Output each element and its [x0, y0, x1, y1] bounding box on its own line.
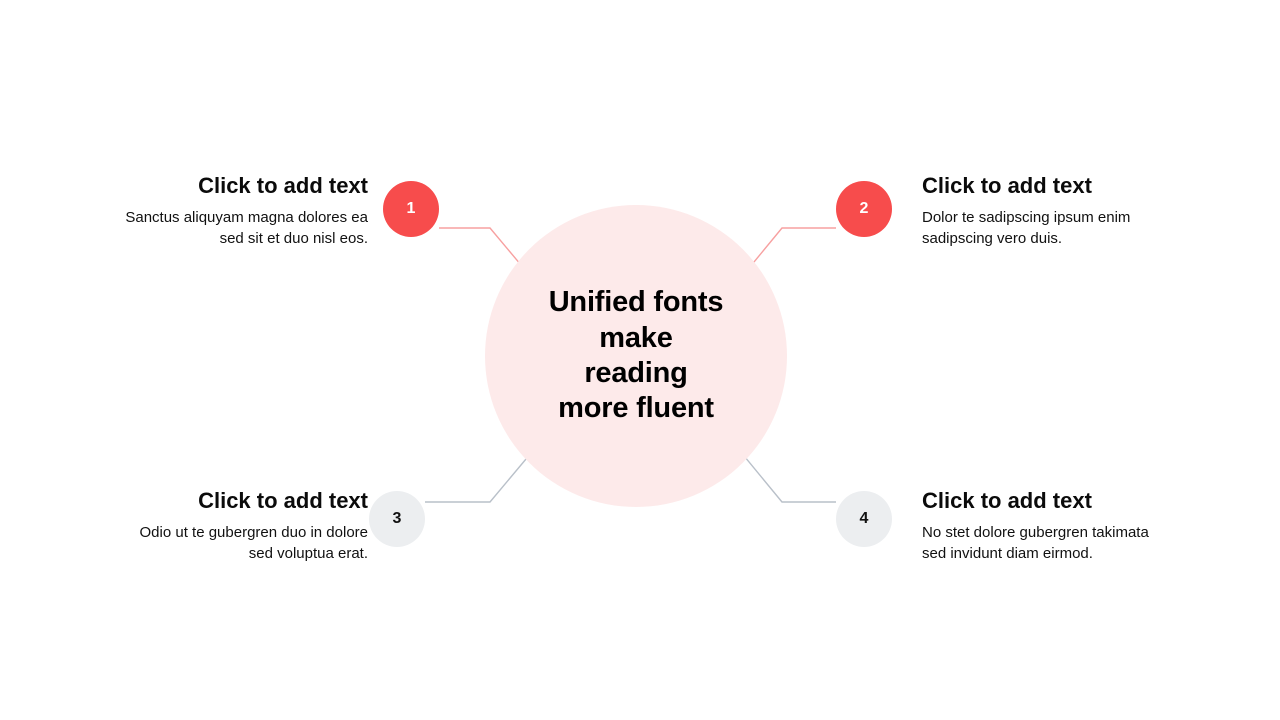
center-hub-text: Unified fonts make reading more fluent: [535, 285, 738, 427]
text-block-title[interactable]: Click to add text: [922, 172, 1172, 200]
text-block-3[interactable]: Click to add text Odio ut te gubergren d…: [118, 487, 368, 564]
node-badge-4[interactable]: 4: [836, 491, 892, 547]
node-badge-label: 4: [860, 510, 869, 528]
text-block-title[interactable]: Click to add text: [922, 487, 1172, 515]
text-block-body[interactable]: Odio ut te gubergren duo in dolore sed v…: [118, 522, 368, 565]
text-block-body[interactable]: Dolor te sadipscing ipsum enim sadipscin…: [922, 207, 1172, 250]
text-block-2[interactable]: Click to add text Dolor te sadipscing ip…: [922, 172, 1172, 249]
text-block-title[interactable]: Click to add text: [118, 172, 368, 200]
node-badge-3[interactable]: 3: [369, 491, 425, 547]
node-badge-1[interactable]: 1: [383, 181, 439, 237]
center-hub[interactable]: Unified fonts make reading more fluent: [485, 205, 787, 507]
text-block-body[interactable]: No stet dolore gubergren takimata sed in…: [922, 522, 1172, 565]
text-block-1[interactable]: Click to add text Sanctus aliquyam magna…: [118, 172, 368, 249]
node-badge-label: 1: [407, 200, 416, 218]
node-badge-label: 2: [860, 200, 869, 218]
text-block-4[interactable]: Click to add text No stet dolore gubergr…: [922, 487, 1172, 564]
node-badge-2[interactable]: 2: [836, 181, 892, 237]
text-block-title[interactable]: Click to add text: [118, 487, 368, 515]
node-badge-label: 3: [393, 510, 402, 528]
text-block-body[interactable]: Sanctus aliquyam magna dolores ea sed si…: [118, 207, 368, 250]
slide-canvas: Unified fonts make reading more fluent 1…: [0, 0, 1280, 720]
